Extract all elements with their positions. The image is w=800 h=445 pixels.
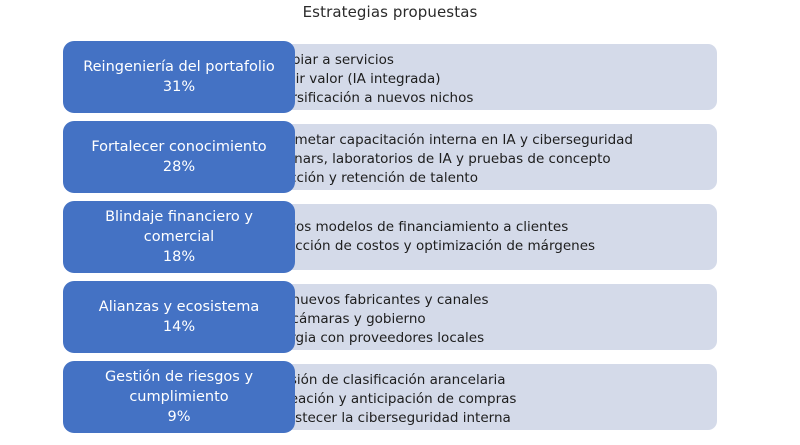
bullet-item: Atracción y retención de talento bbox=[252, 169, 709, 188]
detail-panel: Cambiar a servicios Añadir valor (IA int… bbox=[234, 44, 717, 110]
strategy-name: Fortalecer conocimiento bbox=[91, 137, 266, 157]
bullet-item: Sinergia con proveedores locales bbox=[252, 329, 709, 348]
strategy-name: Alianzas y ecosistema bbox=[99, 297, 259, 317]
strategy-list: Cambiar a servicios Añadir valor (IA int… bbox=[63, 41, 723, 433]
detail-panel: Incremetar capacitación interna en IA y … bbox=[234, 124, 717, 190]
strategy-label-box[interactable]: Alianzas y ecosistema 14% bbox=[63, 281, 295, 353]
bullet-item: Nuevos modelos de financiamiento a clien… bbox=[252, 218, 709, 237]
list-item[interactable]: Con nuevos fabricantes y canales Con cám… bbox=[63, 281, 723, 353]
bullet-list: Revisión de clasificación arancelaria Pl… bbox=[252, 371, 709, 428]
list-item[interactable]: Revisión de clasificación arancelaria Pl… bbox=[63, 361, 723, 433]
strategy-percent: 28% bbox=[91, 157, 266, 177]
strategy-label-box[interactable]: Reingeniería del portafolio 31% bbox=[63, 41, 295, 113]
strategy-label-text: Fortalecer conocimiento 28% bbox=[91, 137, 266, 177]
strategy-name: Gestión de riesgos y cumplimiento bbox=[73, 367, 285, 407]
list-item[interactable]: Nuevos modelos de financiamiento a clien… bbox=[63, 201, 723, 273]
strategy-label-box[interactable]: Blindaje financiero y comercial 18% bbox=[63, 201, 295, 273]
list-item[interactable]: Incremetar capacitación interna en IA y … bbox=[63, 121, 723, 193]
bullet-item: Con nuevos fabricantes y canales bbox=[252, 291, 709, 310]
bullet-item: Cambiar a servicios bbox=[252, 51, 709, 70]
strategy-label-box[interactable]: Gestión de riesgos y cumplimiento 9% bbox=[63, 361, 295, 433]
bullet-list: Nuevos modelos de financiamiento a clien… bbox=[252, 218, 709, 256]
strategy-name: Reingeniería del portafolio bbox=[83, 57, 275, 77]
strategy-label-text: Gestión de riesgos y cumplimiento 9% bbox=[73, 367, 285, 427]
detail-panel: Con nuevos fabricantes y canales Con cám… bbox=[234, 284, 717, 350]
bullet-list: Con nuevos fabricantes y canales Con cám… bbox=[252, 291, 709, 348]
strategy-label-text: Alianzas y ecosistema 14% bbox=[99, 297, 259, 337]
detail-panel: Nuevos modelos de financiamiento a clien… bbox=[234, 204, 717, 270]
strategy-percent: 14% bbox=[99, 317, 259, 337]
bullet-list: Cambiar a servicios Añadir valor (IA int… bbox=[252, 51, 709, 108]
strategy-percent: 9% bbox=[73, 407, 285, 427]
bullet-item: Diversificación a nuevos nichos bbox=[252, 89, 709, 108]
bullet-item: Planeación y anticipación de compras bbox=[252, 390, 709, 409]
strategy-name: Blindaje financiero y comercial bbox=[73, 207, 285, 247]
bullet-item: Incremetar capacitación interna en IA y … bbox=[252, 131, 709, 150]
bullet-item: Webinars, laboratorios de IA y pruebas d… bbox=[252, 150, 709, 169]
bullet-item: Revisión de clasificación arancelaria bbox=[252, 371, 709, 390]
detail-panel: Revisión de clasificación arancelaria Pl… bbox=[234, 364, 717, 430]
page-title: Estrategias propuestas bbox=[0, 2, 780, 22]
strategy-label-box[interactable]: Fortalecer conocimiento 28% bbox=[63, 121, 295, 193]
bullet-list: Incremetar capacitación interna en IA y … bbox=[252, 131, 709, 188]
list-item[interactable]: Cambiar a servicios Añadir valor (IA int… bbox=[63, 41, 723, 113]
strategy-percent: 31% bbox=[83, 77, 275, 97]
strategy-label-text: Reingeniería del portafolio 31% bbox=[83, 57, 275, 97]
bullet-item: Reducción de costos y optimización de má… bbox=[252, 237, 709, 256]
bullet-item: Con cámaras y gobierno bbox=[252, 310, 709, 329]
strategy-percent: 18% bbox=[73, 247, 285, 267]
slide-canvas: Estrategias propuestas Cambiar a servici… bbox=[0, 0, 800, 445]
bullet-item: Añadir valor (IA integrada) bbox=[252, 70, 709, 89]
strategy-label-text: Blindaje financiero y comercial 18% bbox=[73, 207, 285, 267]
bullet-item: Robustecer la ciberseguridad interna bbox=[252, 409, 709, 428]
